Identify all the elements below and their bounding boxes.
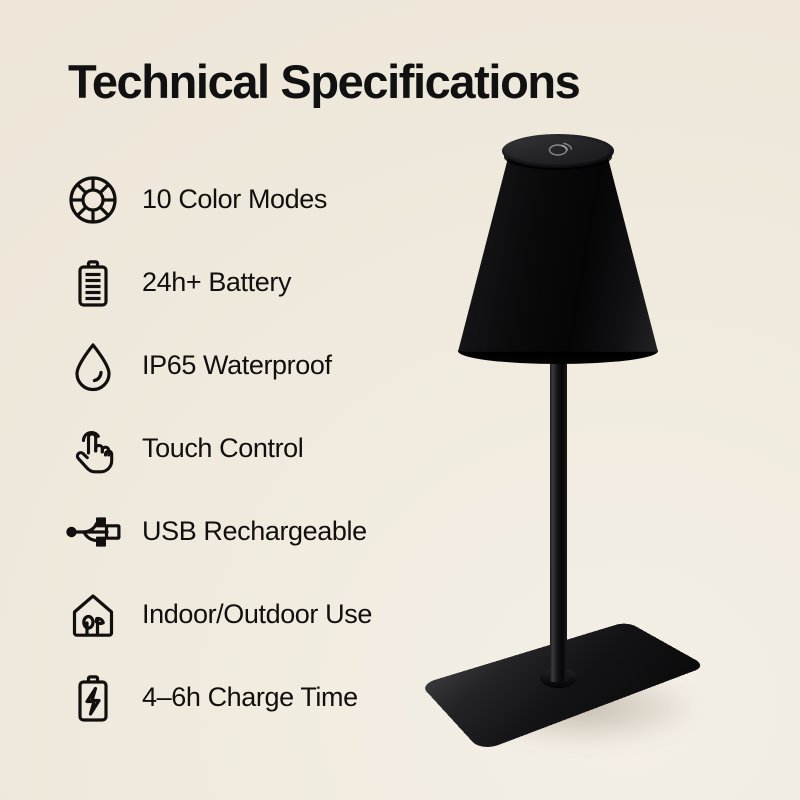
spec-label: Touch Control [142,433,303,464]
water-drop-icon [64,337,122,395]
touch-control-glyph-icon [541,141,575,159]
product-image-cordless-table-lamp [398,112,778,752]
spec-label: 10 Color Modes [142,184,327,215]
house-plant-icon [64,586,122,644]
battery-full-icon [64,254,122,312]
spec-label: Indoor/Outdoor Use [142,599,372,630]
touch-hand-icon [64,420,122,478]
color-wheel-icon [64,171,122,229]
spec-label: 24h+ Battery [142,267,291,298]
infographic-page: Technical Specifications 10 Color Mod [0,0,800,800]
spec-label: IP65 Waterproof [142,350,332,381]
spec-label: 4–6h Charge Time [142,682,358,713]
spec-label: USB Rechargeable [142,516,367,547]
lamp-stem [550,352,567,682]
lamp-shade [458,150,658,358]
usb-icon [64,503,122,561]
battery-charging-icon [64,669,122,727]
page-title: Technical Specifications [68,54,579,109]
